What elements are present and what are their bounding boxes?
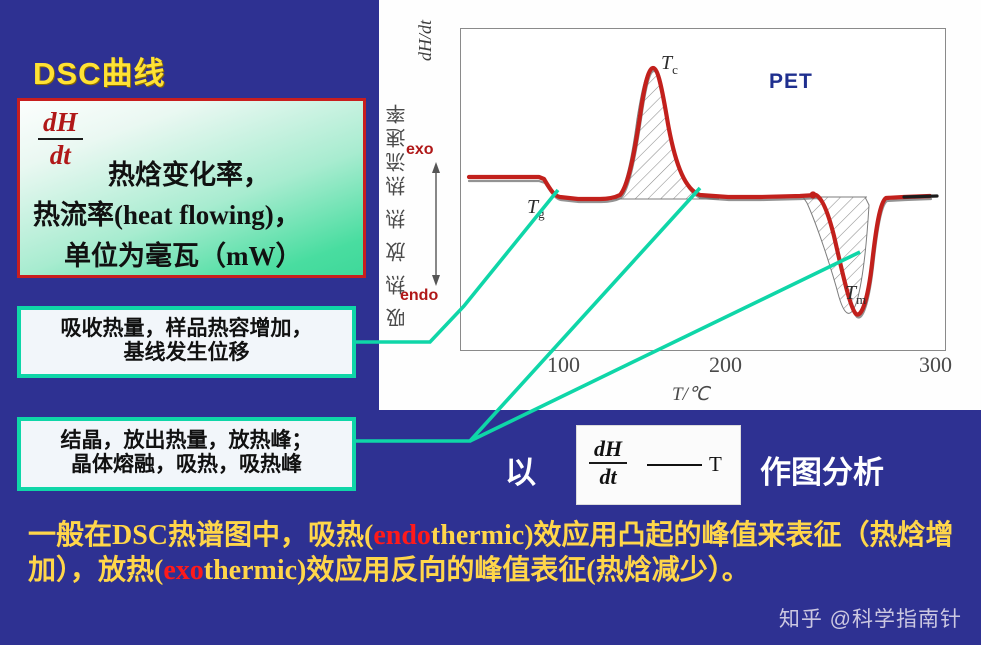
callout-crystallization-melting: 结晶，放出热量，放热峰； 晶体熔融，吸热，吸热峰 [17, 417, 356, 491]
exo-endo-double-arrow-icon [429, 162, 443, 286]
analysis-dh-dt-fraction: dH dt [589, 436, 627, 490]
y-axis-block: 吸 热 放 热 热流速率 dH/dt exo endo [379, 0, 461, 360]
para-seg-2-endo: endo [373, 520, 431, 551]
para-seg-3: thermic)效应用凸起的峰 [431, 520, 730, 551]
analysis-prefix: 以 [505, 447, 536, 492]
y-axis-label-math: dH/dt [415, 20, 436, 61]
analysis-suffix: 作图分析 [760, 447, 884, 492]
analysis-fraction-denominator: dt [589, 462, 627, 490]
slide-canvas: 吸 热 放 热 热流速率 dH/dt exo endo [0, 0, 981, 645]
page-title: DSC曲线 [33, 48, 165, 93]
fraction-denominator: dt [38, 138, 83, 171]
callout-absorb-heat: 吸收热量，样品热容增加， 基线发生位移 [17, 306, 356, 378]
formula-text-line3: 单位为毫瓦（mW） [64, 234, 303, 273]
formula-definition-box: dH dt 热焓变化率， 热流率(heat flowing)， 单位为毫瓦（mW… [17, 98, 366, 278]
y-axis-label-chinese: 吸 热 放 热 热流速率 [383, 8, 412, 328]
formula-text-line1: 热焓变化率， [108, 153, 270, 192]
plot-area [460, 28, 946, 351]
formula-text-line2: 热流率(heat flowing)， [33, 193, 301, 232]
bottom-explanation-paragraph: 一般在DSC热谱图中，吸热(endothermic)效应用凸起的峰值来表征（热焓… [28, 519, 968, 588]
analysis-formula-box: dH dt T [576, 425, 741, 505]
x-tick-100: 100 [547, 352, 580, 378]
analysis-variable-T: T [709, 452, 722, 477]
fraction-numerator: dH [38, 107, 83, 138]
x-axis-label: T/℃ [672, 383, 709, 406]
tm-onset-marker [809, 191, 816, 198]
dh-dt-fraction: dH dt [38, 107, 83, 171]
sample-label-pet: PET [769, 70, 813, 94]
dsc-curve-svg [461, 29, 945, 350]
analysis-dash-separator [647, 464, 702, 466]
endo-direction-label: endo [400, 287, 438, 305]
para-seg-1: 一般在DSC热谱图中，吸热( [28, 520, 373, 551]
para-seg-6: thermic)效应用反向的峰值 [204, 555, 531, 586]
annotation-tc: Tc [661, 52, 678, 78]
chart-panel: 吸 热 放 热 热流速率 dH/dt exo endo [379, 0, 981, 410]
para-seg-5-exo: exo [163, 555, 203, 586]
callout-absorb-line1: 吸收热量，样品热容增加， [21, 316, 352, 340]
analysis-fraction-numerator: dH [589, 436, 627, 462]
analysis-instruction-row: 以 dH dt T 作图分析 [490, 425, 960, 505]
annotation-tg: Tg [527, 196, 545, 222]
annotation-tm: Tm [845, 282, 866, 308]
x-tick-300: 300 [919, 352, 952, 378]
callout-cryst-line1: 结晶，放出热量，放热峰； [21, 428, 352, 452]
callout-absorb-line2: 基线发生位移 [21, 340, 352, 364]
watermark: 知乎 @科学指南针 [779, 603, 962, 633]
exo-direction-label: exo [406, 141, 434, 159]
callout-cryst-line2: 晶体熔融，吸热，吸热峰 [21, 452, 352, 476]
x-tick-200: 200 [709, 352, 742, 378]
curve-end-tail [904, 196, 937, 197]
para-seg-7: 表征(热焓减少）。 [530, 555, 749, 586]
